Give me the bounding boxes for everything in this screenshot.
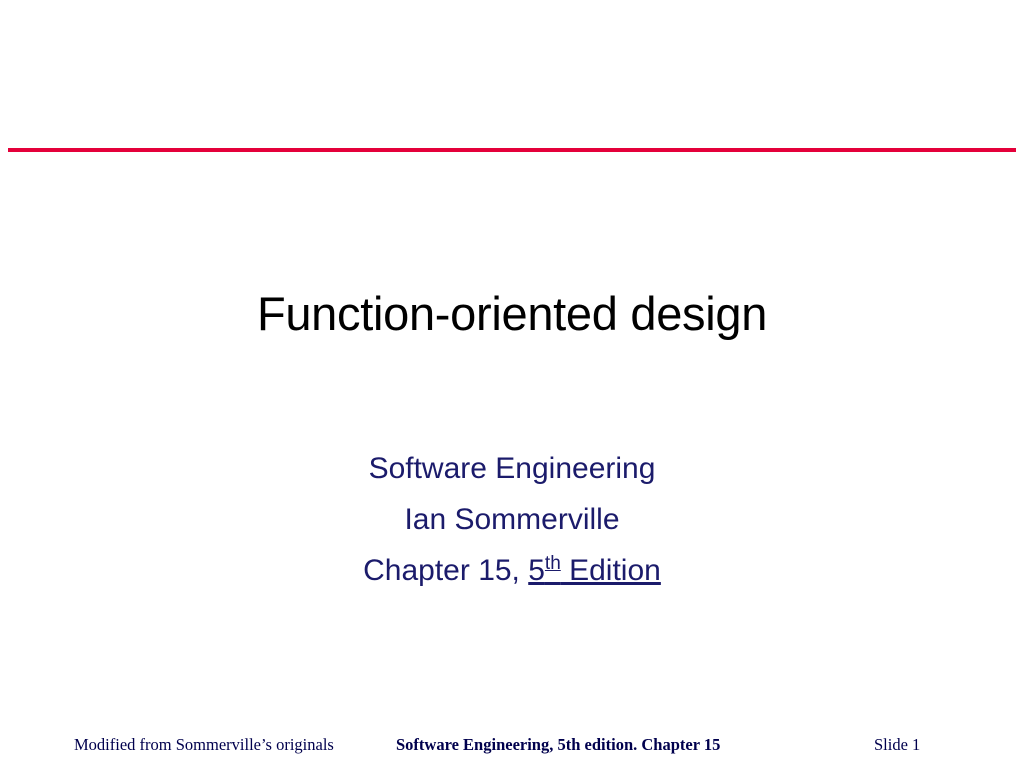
edition-label: Edition: [561, 554, 661, 587]
footer-book-reference: Software Engineering, 5th edition. Chapt…: [396, 735, 720, 755]
footer-slide-number: Slide 1: [874, 735, 920, 755]
edition-ordinal-suffix: th: [545, 553, 561, 574]
page-title: Function-oriented design: [0, 286, 1024, 341]
edition-link[interactable]: 5th Edition: [528, 554, 661, 587]
edition-number: 5: [528, 554, 545, 587]
accent-divider-line: [8, 148, 1016, 152]
slide-footer: Modified from Sommerville’s originals So…: [0, 735, 1024, 759]
slide-canvas: Function-oriented design Software Engine…: [0, 0, 1024, 768]
subtitle-block: Software Engineering Ian Sommerville Cha…: [0, 443, 1024, 596]
footer-attribution: Modified from Sommerville’s originals: [74, 735, 334, 755]
subtitle-line-chapter: Chapter 15, 5th Edition: [0, 545, 1024, 596]
subtitle-line-author: Ian Sommerville: [0, 494, 1024, 545]
subtitle-line-course: Software Engineering: [0, 443, 1024, 494]
chapter-prefix-text: Chapter 15,: [363, 554, 528, 587]
